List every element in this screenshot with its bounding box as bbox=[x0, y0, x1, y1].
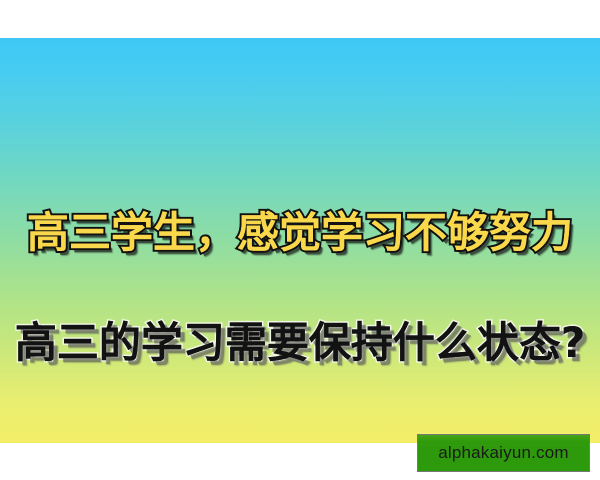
watermark-badge: alphakaiyun.com bbox=[417, 434, 590, 472]
headline-line-2: 高三的学习需要保持什么状态?高三的学习需要保持什么状态? bbox=[0, 322, 600, 364]
line-2-fill: 高三的学习需要保持什么状态? bbox=[0, 322, 600, 364]
watermark-label: alphakaiyun.com bbox=[438, 443, 569, 463]
headline-line-1: 高三学生，感觉学习不够努力高三学生，感觉学习不够努力 bbox=[0, 212, 600, 254]
line-1-fill: 高三学生，感觉学习不够努力 bbox=[0, 212, 600, 254]
poster-canvas: 高三学生，感觉学习不够努力高三学生，感觉学习不够努力 高三的学习需要保持什么状态… bbox=[0, 0, 600, 480]
